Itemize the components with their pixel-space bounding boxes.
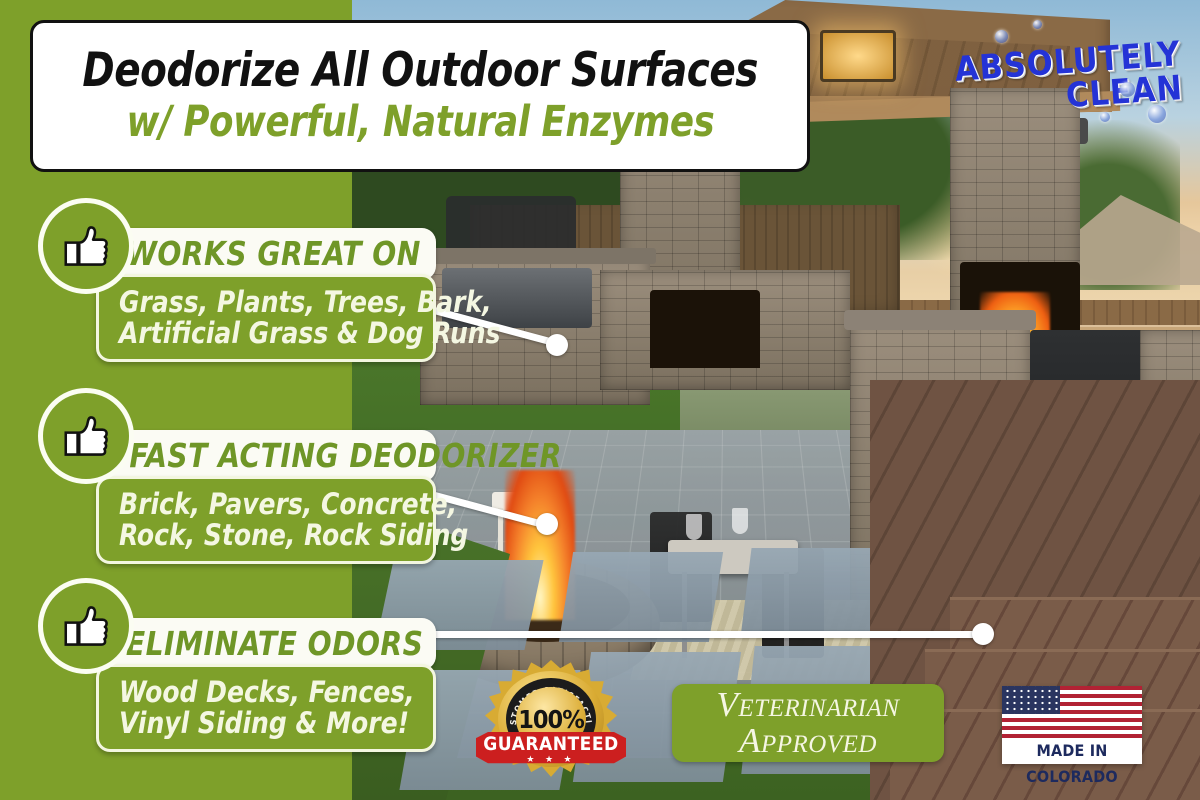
flag-canton (1002, 686, 1060, 714)
thumbs-up-icon (59, 409, 113, 463)
feature-line-1a: Grass, Plants, Trees, Bark, (119, 287, 407, 318)
made-in-colorado-badge: MADE IN COLORADO (1002, 686, 1142, 764)
leader-dot-1 (546, 334, 568, 356)
hanging-lantern (820, 30, 896, 82)
seal-stars: ★ ★ ★ (526, 755, 575, 764)
feature-line-2b: Rock, Stone, Rock Siding (119, 520, 407, 551)
feature-block-2: FAST ACTING DEODORIZER Brick, Pavers, Co… (96, 430, 436, 564)
seal-ribbon: GUARANTEED ★ ★ ★ (476, 732, 626, 766)
thumbs-up-icon (59, 599, 113, 653)
leader-line-3 (420, 631, 986, 638)
feature-block-3: ELIMINATE ODORS Wood Decks, Fences, Viny… (96, 618, 436, 752)
leader-dot-3 (972, 623, 994, 645)
us-flag-icon (1002, 686, 1142, 738)
thumbs-up-badge-3 (38, 578, 134, 674)
headline-banner: Deodorize All Outdoor Surfaces w/ Powerf… (30, 20, 810, 172)
veterinarian-approved-badge: Veterinarian Approved (672, 684, 944, 762)
soap-bubble-icon (1148, 105, 1166, 123)
feature-line-3b: Vinyl Siding & More! (119, 708, 407, 739)
satisfaction-guarantee-seal: CUSTOMER SATISFACTION 100% GUARANTEED ★ … (476, 660, 626, 788)
feature-line-3a: Wood Decks, Fences, (119, 677, 407, 708)
wine-glass (686, 514, 702, 540)
soap-bubble-icon (1033, 20, 1042, 29)
feature-body-3: Wood Decks, Fences, Vinyl Siding & More! (96, 664, 436, 752)
feature-line-1b: Artificial Grass & Dog Runs (119, 318, 407, 349)
feature-title-text-2: FAST ACTING DEODORIZER (129, 436, 561, 475)
fireplace-opening-left (650, 290, 760, 368)
soap-bubble-icon (995, 30, 1008, 43)
feature-body-2: Brick, Pavers, Concrete, Rock, Stone, Ro… (96, 476, 436, 564)
promo-poster: Deodorize All Outdoor Surfaces w/ Powerf… (0, 0, 1200, 800)
feature-line-2a: Brick, Pavers, Concrete, (119, 489, 407, 520)
seal-percent: 100% (518, 705, 583, 734)
wine-glass (732, 508, 748, 534)
soap-bubble-icon (1120, 82, 1135, 97)
vet-badge-line-2: Approved (739, 723, 877, 759)
thumbs-up-badge-2 (38, 388, 134, 484)
feature-title-text-1: WORKS GREAT ON (126, 234, 421, 273)
seal-ribbon-label: GUARANTEED (483, 735, 618, 754)
soap-bubble-icon (1100, 112, 1110, 122)
counter-top (414, 248, 656, 264)
headline-line-1: Deodorize All Outdoor Surfaces (82, 46, 758, 95)
feature-title-2: FAST ACTING DEODORIZER (96, 430, 436, 482)
island-top (844, 310, 1036, 330)
stepping-stone (559, 552, 723, 642)
feature-title-text-3: ELIMINATE ODORS (126, 624, 424, 663)
made-in-colorado-caption: MADE IN COLORADO (1002, 738, 1142, 790)
leader-dot-2 (536, 513, 558, 535)
feature-body-1: Grass, Plants, Trees, Bark, Artificial G… (96, 274, 436, 362)
headline-line-2: w/ Powerful, Natural Enzymes (126, 99, 714, 146)
vet-badge-line-1: Veterinarian (717, 687, 900, 723)
thumbs-up-icon (59, 219, 113, 273)
feature-block-1: WORKS GREAT ON Grass, Plants, Trees, Bar… (96, 228, 436, 362)
feature-title-1: WORKS GREAT ON (96, 228, 436, 280)
feature-title-3: ELIMINATE ODORS (96, 618, 436, 670)
thumbs-up-badge-1 (38, 198, 134, 294)
